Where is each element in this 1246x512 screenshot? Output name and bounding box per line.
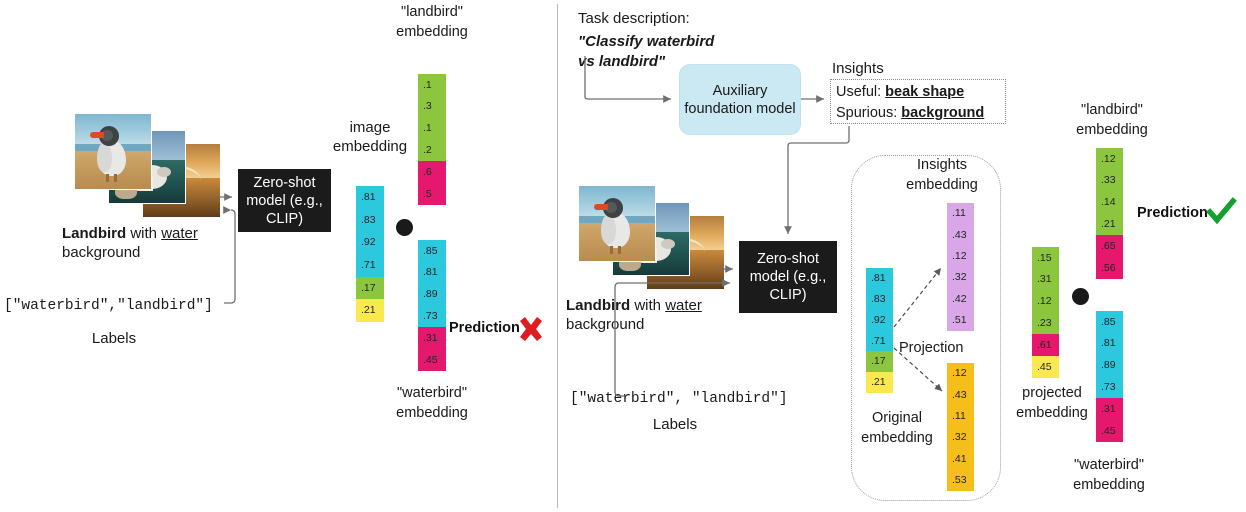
- embedding-cell: .1: [418, 118, 446, 140]
- embedding-cell: .83: [356, 209, 384, 232]
- embedding-cell: .43: [947, 384, 974, 405]
- left-labels-array: ["waterbird","landbird"]: [4, 297, 213, 316]
- left-landbird-embedding-label: "landbird" embedding: [372, 2, 492, 42]
- embedding-cell: .32: [947, 267, 974, 288]
- right-waterbird-embedding-bar: .85.81.89.73.31.45: [1096, 311, 1123, 442]
- embedding-cell: .1: [418, 74, 446, 96]
- embedding-cell: .51: [947, 310, 974, 331]
- caption-mid: with: [630, 297, 665, 314]
- projected-embedding-label: projected embedding: [1000, 383, 1104, 423]
- insights-embedding-bar: .11.43.12.32.42.51: [947, 203, 974, 331]
- left-waterbird-embedding-label: "waterbird" embedding: [372, 383, 492, 423]
- embedding-cell: .32: [947, 427, 974, 448]
- embedding-cell: .73: [418, 305, 446, 327]
- embedding-cell: .6: [418, 161, 446, 183]
- embedding-cell: .81: [356, 186, 384, 209]
- embedding-cell: .31: [1096, 398, 1123, 420]
- insight-spurious-prefix: Spurious:: [836, 105, 901, 121]
- embedding-cell: .65: [1096, 235, 1123, 257]
- embedding-cell: .89: [418, 284, 446, 306]
- caption-strong: Landbird: [566, 297, 630, 314]
- right-waterbird-embedding-label: "waterbird" embedding: [1046, 455, 1172, 495]
- embedding-cell: .71: [866, 330, 893, 351]
- photo-landbird: [578, 185, 656, 262]
- embedding-cell: .45: [1096, 420, 1123, 442]
- embedding-cell: .3: [418, 96, 446, 118]
- right-input-image-stack: [578, 185, 746, 291]
- projected-embedding-bar: .15.31.12.23.61.45: [1032, 247, 1059, 378]
- caption-underline: water: [161, 225, 198, 242]
- task-description-title: Task description:: [578, 9, 690, 28]
- left-image-embedding-bar: .81.83.92.71.17.21: [356, 186, 384, 322]
- embedding-cell: .45: [418, 349, 446, 371]
- caption-rest: background: [62, 244, 140, 261]
- embedding-cell: .71: [356, 254, 384, 277]
- embedding-cell: .12: [1096, 148, 1123, 170]
- embedding-cell: .17: [866, 351, 893, 372]
- right-landbird-embedding-label: "landbird" embedding: [1049, 100, 1175, 140]
- embedding-cell: .21: [1096, 213, 1123, 235]
- insight-useful-row: Useful: beak shape: [836, 82, 1000, 103]
- orange-projection-embedding-bar: .12.43.11.32.41.53: [947, 363, 974, 491]
- embedding-cell: .21: [356, 299, 384, 322]
- embedding-cell: .43: [947, 224, 974, 245]
- vertical-divider: [557, 4, 558, 508]
- embedding-cell: .81: [866, 268, 893, 289]
- embedding-cell: .15: [1032, 247, 1059, 269]
- embedding-cell: .85: [1096, 311, 1123, 333]
- embedding-cell: .53: [947, 470, 974, 491]
- embedding-cell: .2: [418, 139, 446, 161]
- right-zero-shot-model-box: Zero-shot model (e.g., CLIP): [739, 241, 837, 313]
- embedding-cell: .14: [1096, 192, 1123, 214]
- embedding-cell: .12: [947, 246, 974, 267]
- caption-mid: with: [126, 225, 161, 242]
- embedding-cell: .17: [356, 277, 384, 300]
- insights-box: Useful: beak shape Spurious: background: [830, 79, 1006, 124]
- embedding-cell: .33: [1096, 170, 1123, 192]
- left-prediction-label: Prediction: [449, 320, 520, 336]
- embedding-cell: .12: [947, 363, 974, 384]
- right-labels-caption: Labels: [645, 415, 705, 434]
- embedding-cell: .21: [866, 372, 893, 393]
- embedding-cell: .23: [1032, 312, 1059, 334]
- caption-rest: background: [566, 316, 644, 333]
- insight-useful-value: beak shape: [885, 84, 964, 100]
- embedding-cell: .31: [418, 327, 446, 349]
- insights-embedding-label: Insights embedding: [886, 155, 998, 195]
- embedding-cell: .81: [418, 262, 446, 284]
- caption-underline: water: [665, 297, 702, 314]
- left-waterbird-embedding-bar: .85.81.89.73.31.45: [418, 240, 446, 371]
- left-image-caption: Landbird with water background: [62, 224, 262, 262]
- insight-spurious-value: background: [901, 105, 984, 121]
- original-embedding-bar: .81.83.92.71.17.21: [866, 268, 893, 393]
- embedding-cell: .31: [1032, 269, 1059, 291]
- embedding-cell: .12: [1032, 291, 1059, 313]
- embedding-cell: .85: [418, 240, 446, 262]
- insight-useful-prefix: Useful:: [836, 84, 885, 100]
- right-dot-product-operator: [1072, 288, 1089, 305]
- embedding-cell: .92: [356, 231, 384, 254]
- left-input-image-stack: [74, 113, 242, 219]
- projection-label: Projection: [899, 340, 963, 356]
- insight-spurious-row: Spurious: background: [836, 103, 1000, 124]
- right-image-caption: Landbird with water background: [566, 296, 766, 334]
- left-labels-caption: Labels: [84, 329, 144, 348]
- left-zero-shot-model-box: Zero-shot model (e.g., CLIP): [238, 169, 331, 232]
- left-landbird-embedding-bar: .1.3.1.2.6.5: [418, 74, 446, 205]
- embedding-cell: .73: [1096, 376, 1123, 398]
- embedding-cell: .11: [947, 406, 974, 427]
- embedding-cell: .42: [947, 288, 974, 309]
- right-prediction-label: Prediction: [1137, 205, 1208, 221]
- embedding-cell: .45: [1032, 356, 1059, 378]
- embedding-cell: .56: [1096, 257, 1123, 279]
- embedding-cell: .5: [418, 183, 446, 205]
- embedding-cell: .81: [1096, 333, 1123, 355]
- embedding-cell: .61: [1032, 334, 1059, 356]
- embedding-cell: .89: [1096, 355, 1123, 377]
- right-landbird-embedding-bar: .12.33.14.21.65.56: [1096, 148, 1123, 279]
- left-image-embedding-label: image embedding: [327, 118, 413, 156]
- embedding-cell: .92: [866, 310, 893, 331]
- caption-strong: Landbird: [62, 225, 126, 242]
- embedding-cell: .83: [866, 289, 893, 310]
- embedding-cell: .11: [947, 203, 974, 224]
- auxiliary-foundation-model-box: Auxiliary foundation model: [679, 64, 801, 135]
- left-dot-product-operator: [396, 219, 413, 236]
- original-embedding-label: Original embedding: [845, 408, 949, 448]
- photo-landbird: [74, 113, 152, 190]
- embedding-cell: .41: [947, 448, 974, 469]
- arrow-insights-to-model: [788, 126, 849, 234]
- right-labels-array: ["waterbird", "landbird"]: [570, 390, 788, 409]
- insights-title: Insights: [832, 59, 884, 78]
